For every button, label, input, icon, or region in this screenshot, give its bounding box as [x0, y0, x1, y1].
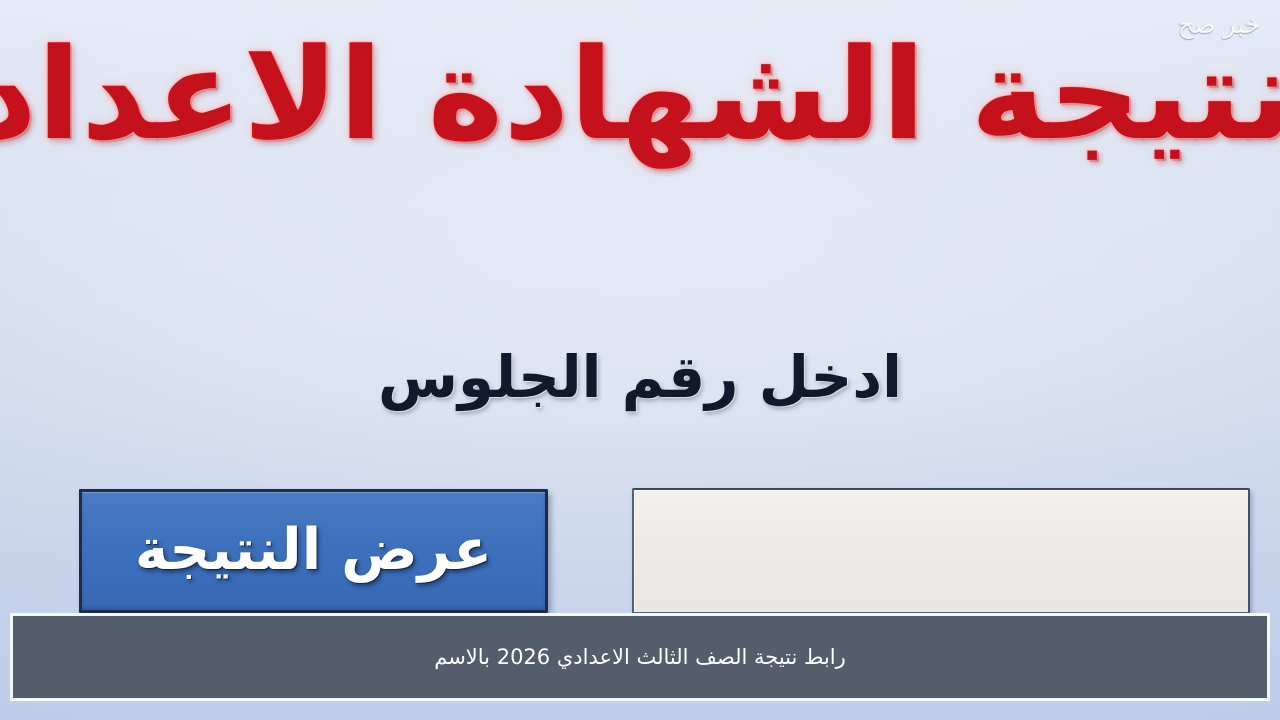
show-result-button[interactable]: عرض النتيجة [79, 489, 548, 613]
result-lookup-page: خبر صح نتيجة الشهادة الاعدادية ادخل رقم … [0, 0, 1280, 720]
site-watermark: خبر صح [1178, 12, 1260, 37]
seat-number-input[interactable] [632, 488, 1250, 614]
seat-number-label-text: ادخل رقم الجلوس [378, 340, 902, 415]
caption-banner-text: رابط نتيجة الصف الثالث الاعدادي 2026 بال… [434, 643, 846, 671]
seat-number-label: ادخل رقم الجلوس [0, 340, 1280, 415]
page-title: نتيجة الشهادة الاعدادية [0, 12, 1280, 178]
seat-number-form: عرض النتيجة [0, 486, 1280, 616]
show-result-button-label: عرض النتيجة [135, 515, 492, 586]
page-title-text: نتيجة الشهادة الاعدادية [0, 12, 1280, 178]
caption-banner: رابط نتيجة الصف الثالث الاعدادي 2026 بال… [10, 613, 1270, 701]
watermark-label: خبر صح [1178, 10, 1260, 39]
